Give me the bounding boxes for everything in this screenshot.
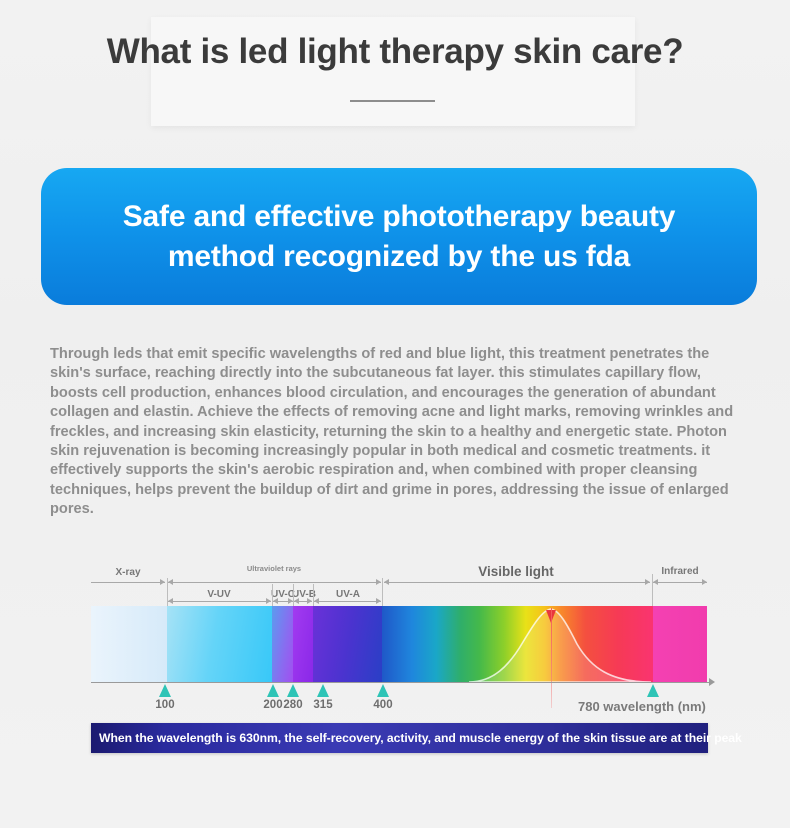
- tick-marker-icon-280: [287, 684, 299, 697]
- page-root: What is led light therapy skin care? Saf…: [0, 0, 790, 828]
- guide-rule-uvb-start: [293, 584, 294, 606]
- tick-label-400: 400: [373, 699, 392, 711]
- band-visible-light: [382, 606, 654, 682]
- guide-rule-uva-start: [313, 584, 314, 606]
- band-uv-a: [313, 606, 383, 682]
- wavelength-axis: [91, 682, 712, 683]
- bracket-arrow-xray: [91, 582, 165, 583]
- band-x-ray: [91, 606, 168, 682]
- title-divider: [350, 100, 435, 102]
- sub-bracket-label-v-uv: V-UV: [207, 589, 230, 600]
- bracket-label-ultraviolet: Ultraviolet rays: [244, 565, 304, 574]
- bracket-arrow-ultraviolet: [168, 582, 381, 583]
- spectrum-band-row: [91, 606, 707, 682]
- axis-arrow-icon: [709, 678, 715, 686]
- sub-bracket-label-uv-a: UV-A: [336, 589, 360, 600]
- sub-bracket-arrow-uv-a: [314, 601, 381, 602]
- band-infrared: [653, 606, 707, 682]
- sub-bracket-arrow-uv-b: [294, 601, 312, 602]
- tick-label-315: 315: [313, 699, 332, 711]
- guide-rule-infrared-start: [652, 574, 653, 606]
- band-uv-c: [272, 606, 294, 682]
- tick-marker-icon-315: [317, 684, 329, 697]
- highlight-banner: Safe and effective phototherapy beauty m…: [41, 168, 757, 305]
- note-text: When the wavelength is 630nm, the self-r…: [91, 731, 742, 745]
- tick-marker-icon-100: [159, 684, 171, 697]
- sub-bracket-arrow-v-uv: [168, 601, 271, 602]
- band-v-uv: [167, 606, 273, 682]
- tick-label-280: 280: [283, 699, 302, 711]
- bracket-label-xray: X-ray: [115, 567, 140, 578]
- axis-caption: 780 wavelength (nm): [578, 699, 706, 714]
- body-paragraph: Through leds that emit specific waveleng…: [50, 345, 740, 520]
- tick-marker-icon-400: [377, 684, 389, 697]
- banner-text: Safe and effective phototherapy beauty m…: [70, 197, 729, 277]
- tick-marker-icon-200: [267, 684, 279, 697]
- guide-rule-uvc-start: [272, 584, 273, 606]
- tick-label-200: 200: [263, 699, 282, 711]
- peak-indicator-line: [551, 608, 553, 708]
- tick-label-100: 100: [155, 699, 174, 711]
- band-uv-b: [293, 606, 314, 682]
- bracket-arrow-visible-light: [384, 582, 650, 583]
- guide-rule-visible-start: [382, 578, 383, 606]
- note-bar: When the wavelength is 630nm, the self-r…: [91, 723, 708, 753]
- tick-marker-icon-780: [647, 684, 659, 697]
- sub-bracket-arrow-uv-c: [273, 601, 293, 602]
- bracket-arrow-infrared: [653, 582, 707, 583]
- page-title: What is led light therapy skin care?: [0, 32, 790, 72]
- bracket-label-visible-light: Visible light: [478, 564, 554, 579]
- guide-rule-uv-start: [167, 578, 168, 606]
- bracket-label-infrared: Infrared: [661, 566, 698, 577]
